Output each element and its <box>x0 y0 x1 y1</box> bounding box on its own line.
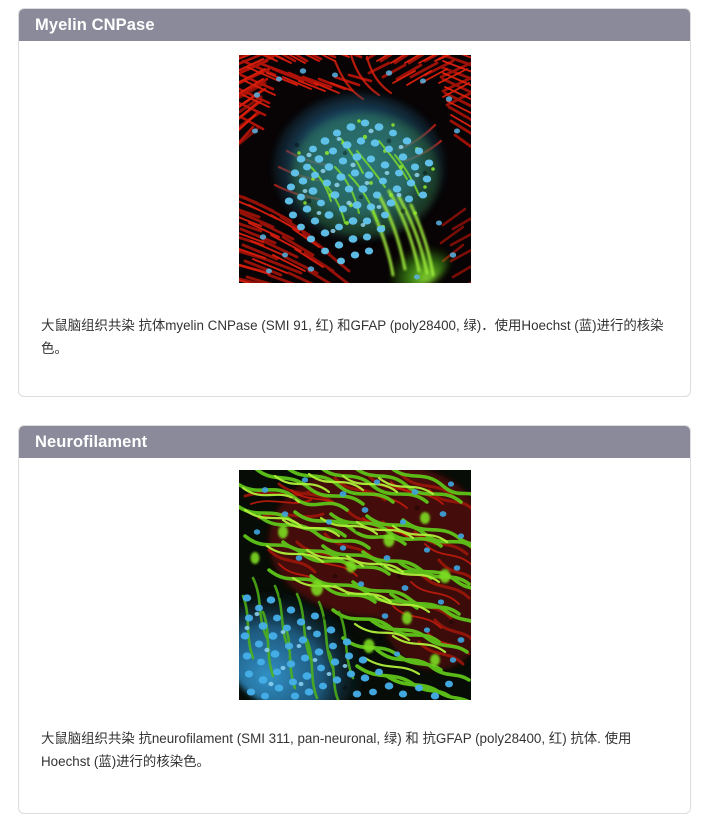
card-title-myelin-cnpase: Myelin CNPase <box>35 17 155 34</box>
card-header-neurofilament: Neurofilament <box>19 426 690 458</box>
caption-neurofilament: 大鼠脑组织共染 抗neurofilament (SMI 311, pan-neu… <box>19 713 690 799</box>
caption-myelin-cnpase: 大鼠脑组织共染 抗体myelin CNPase (SMI 91, 红) 和GFA… <box>19 296 690 382</box>
page-container: Myelin CNPase <box>0 0 710 762</box>
figure-wrap-neurofilament <box>19 458 690 700</box>
card-body-myelin-cnpase: 大鼠脑组织共染 抗体myelin CNPase (SMI 91, 红) 和GFA… <box>19 41 690 382</box>
myelin-cnpase-micrograph <box>239 55 471 283</box>
figure-wrap-myelin-cnpase <box>19 41 690 283</box>
card-body-neurofilament: 大鼠脑组织共染 抗neurofilament (SMI 311, pan-neu… <box>19 458 690 799</box>
card-neurofilament: Neurofilament <box>18 425 691 814</box>
card-header-myelin-cnpase: Myelin CNPase <box>19 9 690 41</box>
neurofilament-micrograph <box>239 470 471 700</box>
card-myelin-cnpase: Myelin CNPase <box>18 8 691 397</box>
card-title-neurofilament: Neurofilament <box>35 434 147 451</box>
